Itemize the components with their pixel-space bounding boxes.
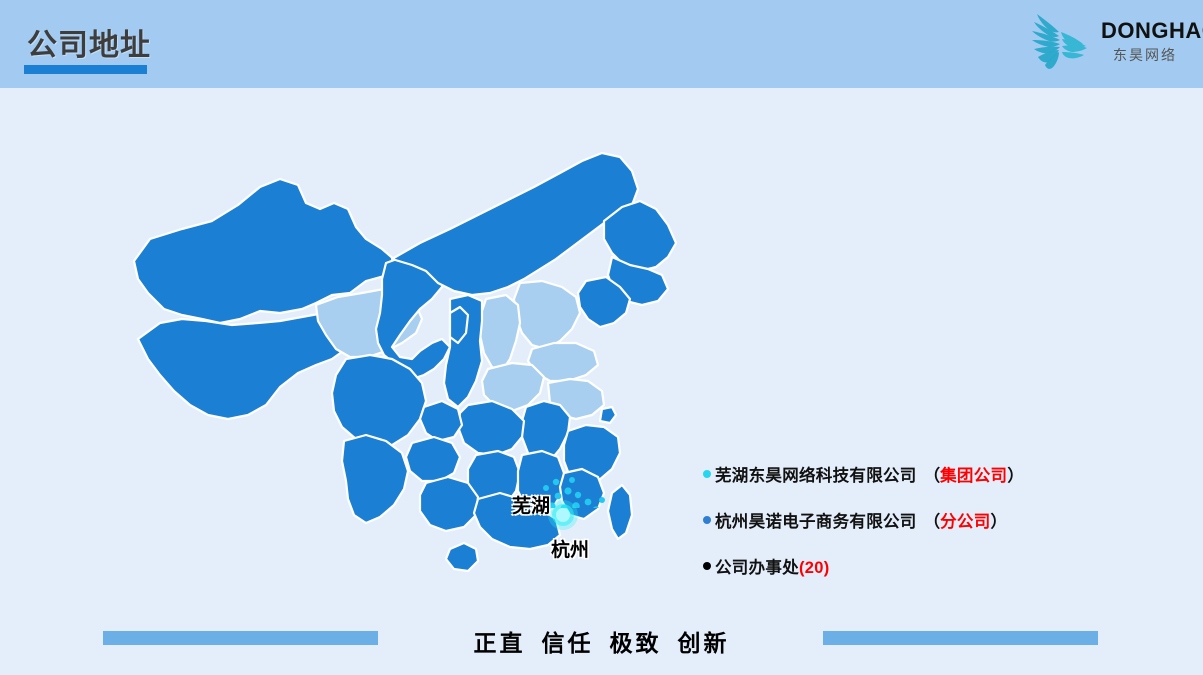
logo-sub: 东昊网络 bbox=[1101, 48, 1193, 62]
legend-company-name: 杭州昊诺电子商务有限公司 bbox=[715, 508, 917, 532]
legend-company-name: 公司办事处 bbox=[715, 554, 799, 578]
legend-item-branch-company: 杭州昊诺电子商务有限公司 （ 分公司 ） bbox=[703, 508, 1123, 532]
map-label-hangzhou: 杭州 bbox=[551, 535, 589, 562]
brand-logo: DONGHAO 东昊网络 bbox=[1013, 6, 1193, 78]
slogan-word: 创新 bbox=[678, 630, 730, 656]
legend-company-tag: 集团公司 bbox=[940, 462, 1007, 486]
legend-close-paren: ） bbox=[1007, 462, 1024, 486]
logo-name: DONGHAO bbox=[1101, 20, 1193, 42]
legend-company-tag: 分公司 bbox=[940, 508, 990, 532]
legend: 芜湖东昊网络科技有限公司 （ 集团公司 ） 杭州昊诺电子商务有限公司 （ 分公司… bbox=[703, 462, 1123, 600]
legend-item-offices: 公司办事处 (20) bbox=[703, 554, 1123, 578]
legend-bullet-icon bbox=[703, 516, 711, 524]
legend-item-group-company: 芜湖东昊网络科技有限公司 （ 集团公司 ） bbox=[703, 462, 1123, 486]
fan-feather-icon bbox=[1023, 8, 1101, 76]
office-markers bbox=[500, 388, 640, 508]
china-map bbox=[120, 143, 690, 603]
legend-bullet-icon bbox=[703, 470, 711, 478]
slogan-word: 极致 bbox=[610, 630, 662, 656]
footer-slogan: 正直信任极致创新 bbox=[0, 624, 1203, 658]
legend-open-paren: （ bbox=[924, 508, 941, 532]
legend-office-count: (20) bbox=[799, 559, 830, 578]
title-underline bbox=[24, 65, 147, 74]
slogan-word: 正直 bbox=[474, 630, 526, 656]
slogan-word: 信任 bbox=[542, 630, 594, 656]
legend-open-paren: （ bbox=[924, 462, 941, 486]
legend-close-paren: ） bbox=[991, 508, 1008, 532]
legend-company-name: 芜湖东昊网络科技有限公司 bbox=[715, 462, 917, 486]
legend-bullet-icon bbox=[703, 562, 711, 570]
page-title: 公司地址 bbox=[27, 20, 151, 64]
map-label-wuhu: 芜湖 bbox=[512, 491, 550, 518]
